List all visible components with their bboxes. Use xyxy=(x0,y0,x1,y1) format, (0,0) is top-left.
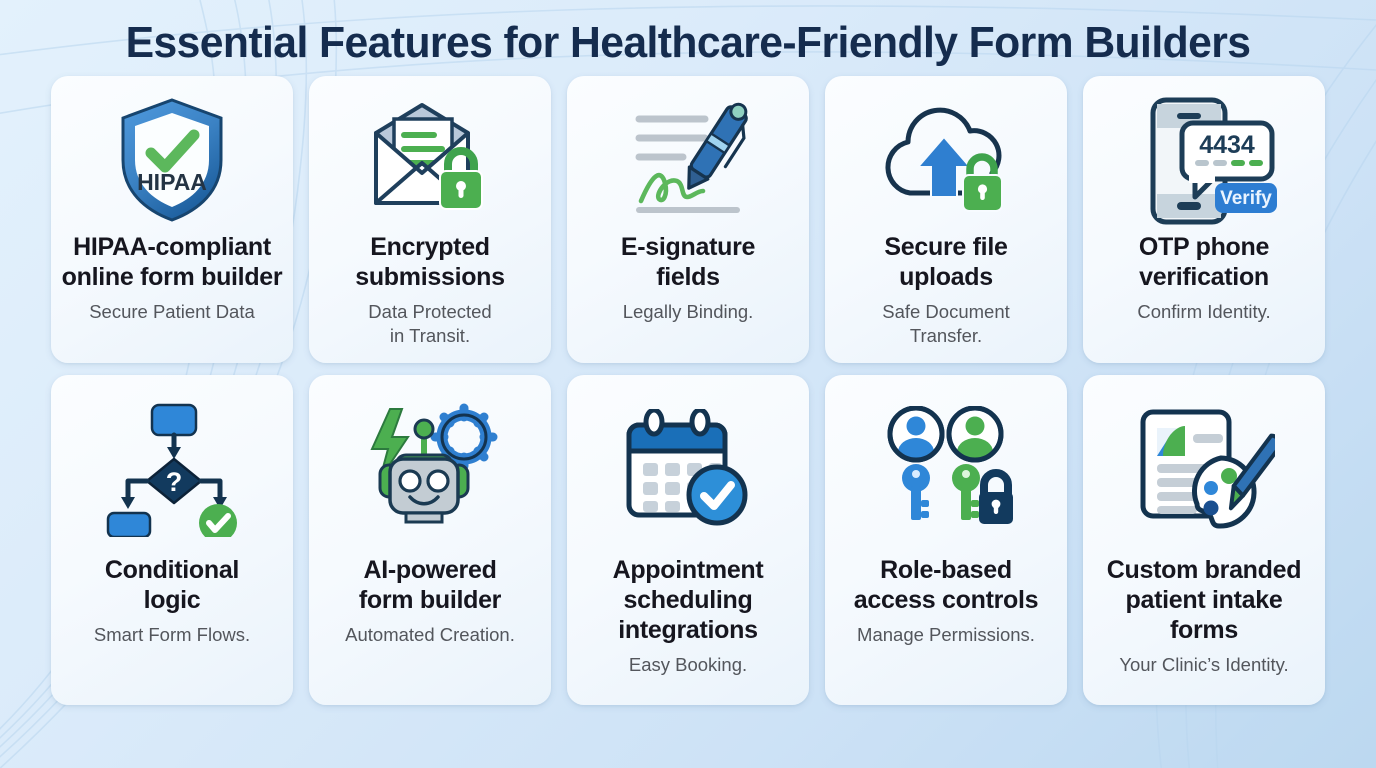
card-subtitle: Your Clinic’s Identity. xyxy=(1119,653,1288,677)
header: Essential Features for Healthcare-Friend… xyxy=(0,0,1376,76)
card-title: HIPAA-compliant online form builder xyxy=(62,232,283,292)
users-keys-lock-icon xyxy=(876,389,1016,549)
card-subtitle: Manage Permissions. xyxy=(857,623,1035,647)
otp-code: 4434 xyxy=(1199,131,1255,159)
decision-label: ? xyxy=(166,467,183,497)
card-title: AI-powered form builder xyxy=(359,555,501,615)
card-title: Appointment scheduling integrations xyxy=(613,555,764,645)
robot-ai-icon xyxy=(360,389,500,549)
encrypted-envelope-icon xyxy=(360,90,500,230)
calendar-check-icon xyxy=(621,389,755,549)
card-subtitle: Confirm Identity. xyxy=(1137,300,1270,324)
page-title: Essential Features for Healthcare-Friend… xyxy=(21,16,1356,70)
hipaa-shield-icon: HIPAA xyxy=(111,90,233,230)
card-subtitle: Smart Form Flows. xyxy=(94,623,250,647)
card-subtitle: Legally Binding. xyxy=(623,300,754,324)
feature-card-grid: HIPAA HIPAA-compliant online form builde… xyxy=(0,76,1376,705)
feature-card-appointment-scheduling-integrations[interactable]: Appointment scheduling integrations Easy… xyxy=(567,375,809,705)
card-title: Custom branded patient intake forms xyxy=(1107,555,1301,645)
key-green-icon xyxy=(952,464,980,520)
feature-card-encrypted-submissions[interactable]: Encrypted submissions Data Protected in … xyxy=(309,76,551,363)
hipaa-shield-label: HIPAA xyxy=(137,169,207,195)
lock-navy-icon xyxy=(979,473,1013,524)
key-blue-icon xyxy=(902,464,930,520)
card-subtitle: Easy Booking. xyxy=(629,653,747,677)
card-subtitle: Automated Creation. xyxy=(345,623,515,647)
feature-card-ai-powered-form-builder[interactable]: AI-powered form builder Automated Creati… xyxy=(309,375,551,705)
flowchart-decision-icon: ? xyxy=(104,389,240,549)
feature-card-otp-phone-verification[interactable]: 4434 Verify OTP phone verification xyxy=(1083,76,1325,363)
card-title: E-signature fields xyxy=(621,232,755,292)
cloud-upload-lock-icon xyxy=(874,90,1018,230)
feature-card-secure-file-uploads[interactable]: Secure file uploads Safe Document Transf… xyxy=(825,76,1067,363)
feature-card-role-based-access-controls[interactable]: Role-based access controls Manage Permis… xyxy=(825,375,1067,705)
card-title: Conditional logic xyxy=(105,555,239,615)
feature-card-hipaa-compliant-online-form-builder[interactable]: HIPAA HIPAA-compliant online form builde… xyxy=(51,76,293,363)
signature-pen-icon xyxy=(621,90,755,230)
feature-card-e-signature-fields[interactable]: E-signature fields Legally Binding. xyxy=(567,76,809,363)
user-avatar-blue-icon xyxy=(890,408,942,460)
card-title: OTP phone verification xyxy=(1139,232,1269,292)
card-title: Secure file uploads xyxy=(884,232,1007,292)
otp-phone-icon: 4434 Verify xyxy=(1129,90,1279,230)
infographic-canvas: Essential Features for Healthcare-Friend… xyxy=(0,0,1376,768)
card-subtitle: Data Protected in Transit. xyxy=(368,300,491,348)
user-avatar-green-icon xyxy=(949,408,1001,460)
clinic-logo-icon xyxy=(1157,426,1185,456)
feature-card-custom-branded-patient-intake-forms[interactable]: Custom branded patient intake forms Your… xyxy=(1083,375,1325,705)
card-subtitle: Safe Document Transfer. xyxy=(882,300,1010,348)
feature-card-conditional-logic[interactable]: ? Conditional logic Smart Form Flows. xyxy=(51,375,293,705)
card-title: Role-based access controls xyxy=(854,555,1039,615)
card-subtitle: Secure Patient Data xyxy=(89,300,255,324)
card-title: Encrypted submissions xyxy=(355,232,505,292)
verify-button-label: Verify xyxy=(1220,188,1272,209)
branded-document-palette-icon xyxy=(1133,389,1275,549)
verify-button[interactable]: Verify xyxy=(1215,183,1277,213)
